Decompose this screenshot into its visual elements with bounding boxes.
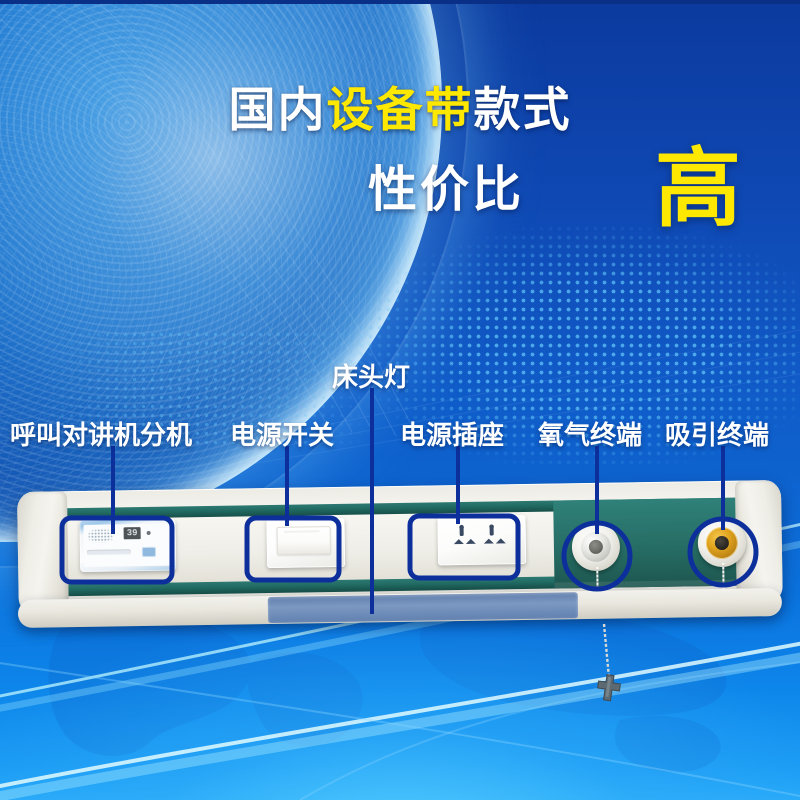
callout-label-power-socket: 电源插座 [400,415,504,452]
callout-label-suction-outlet: 吸引终端 [665,415,769,452]
callout-label-oxygen-outlet: 氧气终端 [538,415,642,452]
product-banner: 国内设备带款式 性价比 高 呼叫对讲机分机 电源开关 床头灯 电源插座 氧气终端… [0,0,800,800]
callout-label-bed-lamp: 床头灯 [332,357,410,394]
callout-label-intercom: 呼叫对讲机分机 [10,415,192,452]
callout-label-power-switch: 电源开关 [230,415,334,452]
callout-labels: 呼叫对讲机分机 电源开关 床头灯 电源插座 氧气终端 吸引终端 [0,0,800,800]
